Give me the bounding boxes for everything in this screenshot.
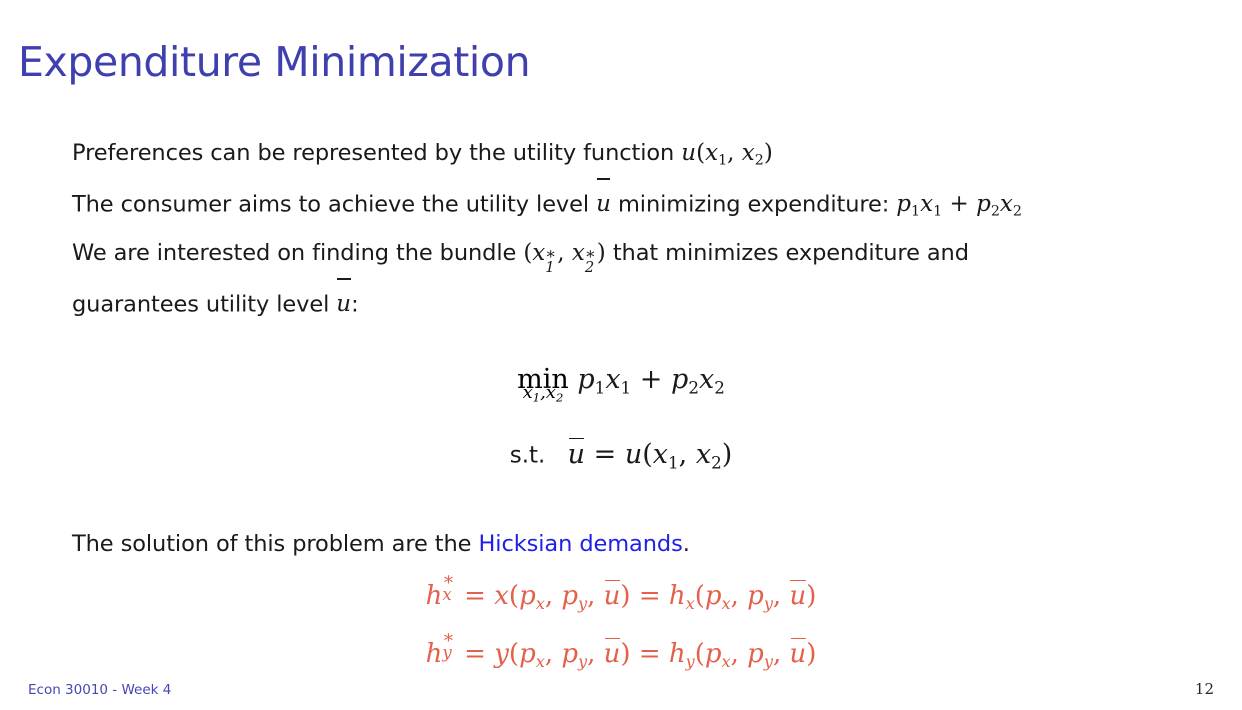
math-plus: + (949, 191, 968, 217)
math-var-u-bar: u (596, 178, 611, 229)
math-rparen: ) (722, 439, 733, 470)
math-var-x2: x (742, 140, 755, 166)
math-expenditure: p1x1 + p2x2 (896, 191, 1022, 217)
math-comma: , (679, 439, 688, 470)
math-sub-2: 2 (585, 243, 594, 293)
math-equals: = (639, 639, 661, 669)
hicksian-period: . (683, 531, 690, 557)
math-comma: , (727, 140, 734, 166)
limit-var-x2: x (546, 382, 556, 403)
math-var-x1: x (920, 191, 933, 217)
math-var-x: x (494, 581, 509, 611)
math-sub-x: x (442, 585, 451, 604)
math-var-u-bar: u (604, 579, 621, 611)
math-comma: , (557, 240, 564, 266)
math-equals: = (464, 639, 486, 669)
equation-minimize: min x1,x2 p1x1 + p2x2 (0, 364, 1242, 397)
math-var-p2: p (671, 364, 688, 395)
math-sub-y: y (686, 652, 695, 671)
math-sub-2: 2 (755, 153, 764, 169)
math-sub-1: 1 (595, 377, 606, 397)
math-lparen: ( (509, 581, 519, 611)
math-var-h: h (669, 581, 686, 611)
math-sub-2: 2 (1013, 204, 1022, 220)
body-line-2-text-mid: minimizing expenditure: (611, 191, 896, 217)
slide-canvas: Expenditure Minimization Preferences can… (0, 0, 1242, 710)
math-sub-x: x (536, 594, 545, 613)
math-var-u: u (625, 439, 642, 470)
math-star-sub-y: ∗y (442, 636, 456, 662)
math-lparen: ( (695, 639, 705, 669)
math-comma: , (731, 639, 739, 669)
math-ubar-1: u (596, 191, 611, 217)
math-var-x1: x (605, 364, 620, 395)
math-sub-y: y (764, 652, 773, 671)
math-ubar-2: u (336, 291, 351, 317)
slide-title: Expenditure Minimization (18, 38, 530, 86)
math-comma: , (731, 581, 739, 611)
math-sub-1: 1 (621, 377, 632, 397)
math-comma: , (773, 581, 781, 611)
math-comma: , (545, 639, 553, 669)
hicksian-sentence: The solution of this problem are the Hic… (72, 531, 690, 557)
math-lparen: ( (696, 140, 705, 166)
math-sub-x: x (722, 594, 731, 613)
math-var-p: p (519, 581, 536, 611)
math-var-x2: x (696, 439, 711, 470)
math-var-u-bar: u (604, 637, 621, 669)
math-equals: = (594, 439, 617, 470)
math-var-u: u (681, 140, 696, 166)
math-var-x: x (572, 240, 585, 266)
math-sub-2: 2 (688, 377, 699, 397)
min-operator-block: min x1,x2 (517, 366, 569, 393)
math-sub-2: 2 (711, 452, 722, 472)
math-var-p: p (705, 581, 722, 611)
math-equals: = (464, 581, 486, 611)
math-star-sub-1: ∗1 (545, 237, 557, 260)
math-sub-x: x (686, 594, 695, 613)
body-line-2: The consumer aims to achieve the utility… (72, 178, 1222, 228)
math-lparen: ( (642, 439, 653, 470)
min-limits: x1,x2 (523, 384, 564, 404)
equation-hicksian-demand-x: h∗x = x(px, py, u) = hx(px, py, u) (0, 578, 1242, 613)
math-var-u-bar: u (789, 579, 806, 611)
math-sub-y: y (442, 643, 451, 662)
limit-var-x1: x (523, 382, 533, 403)
hicksian-demands-highlight: Hicksian demands (478, 531, 682, 557)
footer-page-number: 12 (1195, 680, 1214, 698)
math-var-p1: p (896, 191, 911, 217)
body-line-4-colon: : (351, 291, 358, 317)
math-var-p: p (561, 581, 578, 611)
math-star-sub-2: ∗2 (585, 237, 597, 260)
math-var-p: p (705, 639, 722, 669)
math-var-p: p (561, 639, 578, 669)
math-comma: , (587, 581, 595, 611)
demand-y-expression: h∗y = y(px, py, u) = hy(px, py, u) (426, 639, 817, 669)
math-var-p1: p (577, 364, 594, 395)
math-var-x2: x (1000, 191, 1013, 217)
math-sub-y: y (578, 652, 587, 671)
math-sub-x: x (536, 652, 545, 671)
math-var-y: y (494, 639, 509, 669)
math-optimal-bundle: (x∗1, x∗2) (523, 240, 605, 266)
math-var-p2: p (976, 191, 991, 217)
math-lparen: ( (523, 240, 532, 266)
math-plus: + (640, 364, 663, 395)
math-rparen: ) (620, 581, 630, 611)
math-sub-1: 1 (718, 153, 727, 169)
math-var-x: x (532, 240, 545, 266)
math-rparen: ) (597, 240, 606, 266)
math-comma: , (545, 581, 553, 611)
math-var-x1: x (705, 140, 718, 166)
demand-x-expression: h∗x = x(px, py, u) = hx(px, py, u) (426, 581, 817, 611)
math-lparen: ( (509, 639, 519, 669)
constraint-expression: u = u(x1, x2) (550, 439, 732, 470)
math-var-h: h (426, 639, 443, 669)
math-rparen: ) (620, 639, 630, 669)
math-var-x1: x (653, 439, 668, 470)
body-line-3-text-before: We are interested on finding the bundle (72, 240, 523, 266)
body-line-3: We are interested on finding the bundle … (72, 228, 1222, 278)
math-sub-1: 1 (545, 243, 554, 293)
equation-hicksian-demand-y: h∗y = y(px, py, u) = hy(px, py, u) (0, 636, 1242, 671)
math-comma: , (773, 639, 781, 669)
constraint-label: s.t. (510, 443, 546, 469)
body-text-block: Preferences can be represented by the ut… (72, 128, 1222, 328)
math-star-sub-x: ∗x (442, 578, 456, 604)
math-rparen: ) (806, 581, 816, 611)
body-line-1-text: Preferences can be represented by the ut… (72, 140, 681, 166)
math-sub-x: x (722, 652, 731, 671)
body-line-4: guarantees utility level u: (72, 278, 1222, 328)
math-sub-1: 1 (668, 452, 679, 472)
body-line-1: Preferences can be represented by the ut… (72, 128, 1222, 178)
math-rparen: ) (764, 140, 773, 166)
math-var-h: h (669, 639, 686, 669)
math-var-u-bar: u (336, 278, 351, 329)
hicksian-text-before: The solution of this problem are the (72, 531, 478, 557)
limit-sub-2: 2 (556, 391, 563, 405)
math-utility-function: u(x1, x2) (681, 140, 773, 166)
body-line-2-text-before: The consumer aims to achieve the utility… (72, 191, 596, 217)
math-sub-2: 2 (991, 204, 1000, 220)
math-sub-y: y (764, 594, 773, 613)
math-var-x2: x (699, 364, 714, 395)
math-sub-1: 1 (933, 204, 942, 220)
math-sub-2: 2 (714, 377, 725, 397)
body-line-3-text-after: that minimizes expenditure and (606, 240, 969, 266)
math-var-h: h (426, 581, 443, 611)
equation-constraint: s.t. u = u(x1, x2) (0, 437, 1242, 472)
math-lparen: ( (695, 581, 705, 611)
min-objective: p1x1 + p2x2 (569, 364, 725, 395)
math-rparen: ) (806, 639, 816, 669)
math-var-p: p (747, 581, 764, 611)
footer-course-label: Econ 30010 - Week 4 (28, 682, 171, 698)
math-comma: , (587, 639, 595, 669)
math-var-u-bar: u (568, 437, 585, 470)
math-sub-1: 1 (911, 204, 920, 220)
math-var-p: p (519, 639, 536, 669)
math-equals: = (639, 581, 661, 611)
math-var-p: p (747, 639, 764, 669)
math-var-u-bar: u (789, 637, 806, 669)
body-line-4-text-before: guarantees utility level (72, 291, 336, 317)
math-sub-y: y (578, 594, 587, 613)
